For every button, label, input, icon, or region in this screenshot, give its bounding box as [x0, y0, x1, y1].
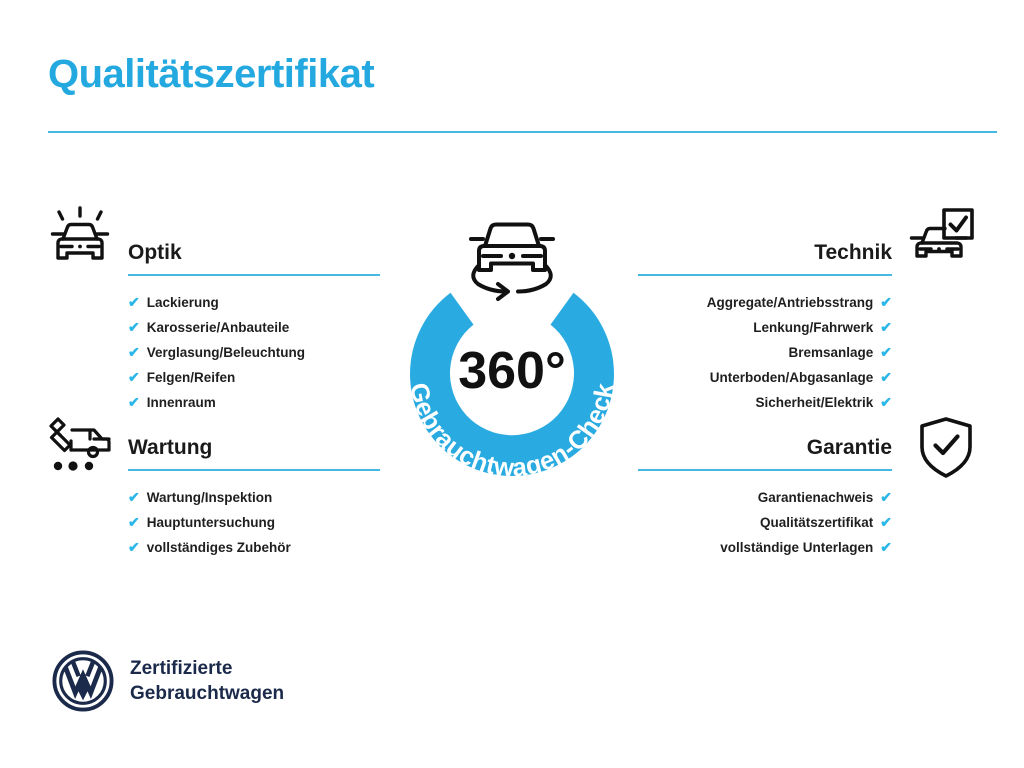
list-item-label: Aggregate/Antriebsstrang [707, 291, 874, 315]
list-item: Sicherheit/Elektrik ✔ [638, 390, 892, 415]
list-item: vollständige Unterlagen ✔ [638, 535, 892, 560]
brand-line-1: Zertifizierte [130, 656, 284, 681]
list-item: Aggregate/Antriebsstrang ✔ [638, 290, 892, 315]
list-item-label: Sicherheit/Elektrik [755, 391, 873, 415]
section-garantie: Garantie Garantienachweis ✔ Qualitätszer… [638, 435, 892, 560]
section-optik-divider [128, 274, 380, 276]
section-technik-header: Technik [638, 240, 892, 276]
car-rotation-icon [471, 225, 553, 300]
list-item: ✔ vollständiges Zubehör [128, 535, 380, 560]
volkswagen-brand-text: Zertifizierte Gebrauchtwagen [130, 656, 284, 706]
list-item-label: Innenraum [147, 391, 216, 415]
check-icon: ✔ [128, 315, 140, 339]
check-icon: ✔ [880, 485, 892, 509]
list-item-label: vollständiges Zubehör [147, 536, 291, 560]
list-item: ✔ Wartung/Inspektion [128, 485, 380, 510]
shield-check-icon [910, 412, 982, 484]
section-garantie-divider [638, 469, 892, 471]
check-icon: ✔ [880, 315, 892, 339]
list-item-label: Karosserie/Anbauteile [147, 316, 290, 340]
car-shine-icon [44, 203, 116, 275]
check-icon: ✔ [128, 390, 140, 414]
header-divider [48, 131, 997, 133]
section-wartung-title: Wartung [128, 435, 380, 461]
section-wartung-list: ✔ Wartung/Inspektion ✔ Hauptuntersuchung… [128, 485, 380, 560]
list-item: Qualitätszertifikat ✔ [638, 510, 892, 535]
section-technik: Technik Aggregate/Antriebsstrang ✔ Lenku… [638, 240, 892, 415]
check-icon: ✔ [880, 535, 892, 559]
list-item: ✔ Verglasung/Beleuchtung [128, 340, 380, 365]
list-item-label: Qualitätszertifikat [760, 511, 873, 535]
section-optik-title: Optik [128, 240, 380, 266]
section-optik-header: Optik [128, 240, 380, 276]
check-icon: ✔ [128, 365, 140, 389]
list-item-label: Lenkung/Fahrwerk [753, 316, 873, 340]
list-item: Lenkung/Fahrwerk ✔ [638, 315, 892, 340]
section-technik-title: Technik [638, 240, 892, 266]
list-item-label: Lackierung [147, 291, 219, 315]
section-technik-list: Aggregate/Antriebsstrang ✔ Lenkung/Fahrw… [638, 290, 892, 415]
section-wartung: Wartung ✔ Wartung/Inspektion ✔ Hauptunte… [128, 435, 380, 560]
list-item-label: Hauptuntersuchung [147, 511, 275, 535]
list-item: ✔ Felgen/Reifen [128, 365, 380, 390]
certificate-page: Qualitätszertifikat Optik [0, 0, 1024, 768]
badge-center-label: 360° [458, 342, 566, 400]
list-item: ✔ Karosserie/Anbauteile [128, 315, 380, 340]
section-garantie-title: Garantie [638, 435, 892, 461]
section-garantie-header: Garantie [638, 435, 892, 471]
check-icon: ✔ [128, 290, 140, 314]
check-icon: ✔ [880, 340, 892, 364]
check-icon: ✔ [880, 365, 892, 389]
section-wartung-header: Wartung [128, 435, 380, 471]
list-item-label: Felgen/Reifen [147, 366, 236, 390]
check-icon: ✔ [128, 510, 140, 534]
section-garantie-list: Garantienachweis ✔ Qualitätszertifikat ✔… [638, 485, 892, 560]
section-wartung-divider [128, 469, 380, 471]
list-item-label: Unterboden/Abgasanlage [710, 366, 874, 390]
check-icon: ✔ [128, 340, 140, 364]
gebrauchtwagen-check-badge: Gebrauchtwagen-Check 360° [382, 192, 642, 492]
list-item: Garantienachweis ✔ [638, 485, 892, 510]
section-optik: Optik ✔ Lackierung ✔ Karosserie/Anbautei… [128, 240, 380, 415]
list-item: ✔ Lackierung [128, 290, 380, 315]
list-item-label: Verglasung/Beleuchtung [147, 341, 305, 365]
volkswagen-logo-icon [52, 650, 114, 712]
list-item: Bremsanlage ✔ [638, 340, 892, 365]
section-optik-list: ✔ Lackierung ✔ Karosserie/Anbauteile ✔ V… [128, 290, 380, 415]
check-icon: ✔ [128, 535, 140, 559]
list-item-label: Garantienachweis [758, 486, 874, 510]
check-icon: ✔ [880, 290, 892, 314]
wrench-car-service-icon [44, 412, 116, 484]
brand-line-2: Gebrauchtwagen [130, 681, 284, 706]
check-icon: ✔ [128, 485, 140, 509]
page-title: Qualitätszertifikat [48, 52, 374, 96]
list-item: ✔ Hauptuntersuchung [128, 510, 380, 535]
section-technik-divider [638, 274, 892, 276]
check-icon: ✔ [880, 510, 892, 534]
check-icon: ✔ [880, 390, 892, 414]
list-item: Unterboden/Abgasanlage ✔ [638, 365, 892, 390]
list-item-label: Wartung/Inspektion [147, 486, 273, 510]
list-item-label: Bremsanlage [788, 341, 873, 365]
car-checkbox-icon [906, 203, 978, 275]
volkswagen-brand-block: Zertifizierte Gebrauchtwagen [52, 650, 284, 712]
list-item: ✔ Innenraum [128, 390, 380, 415]
list-item-label: vollständige Unterlagen [720, 536, 873, 560]
